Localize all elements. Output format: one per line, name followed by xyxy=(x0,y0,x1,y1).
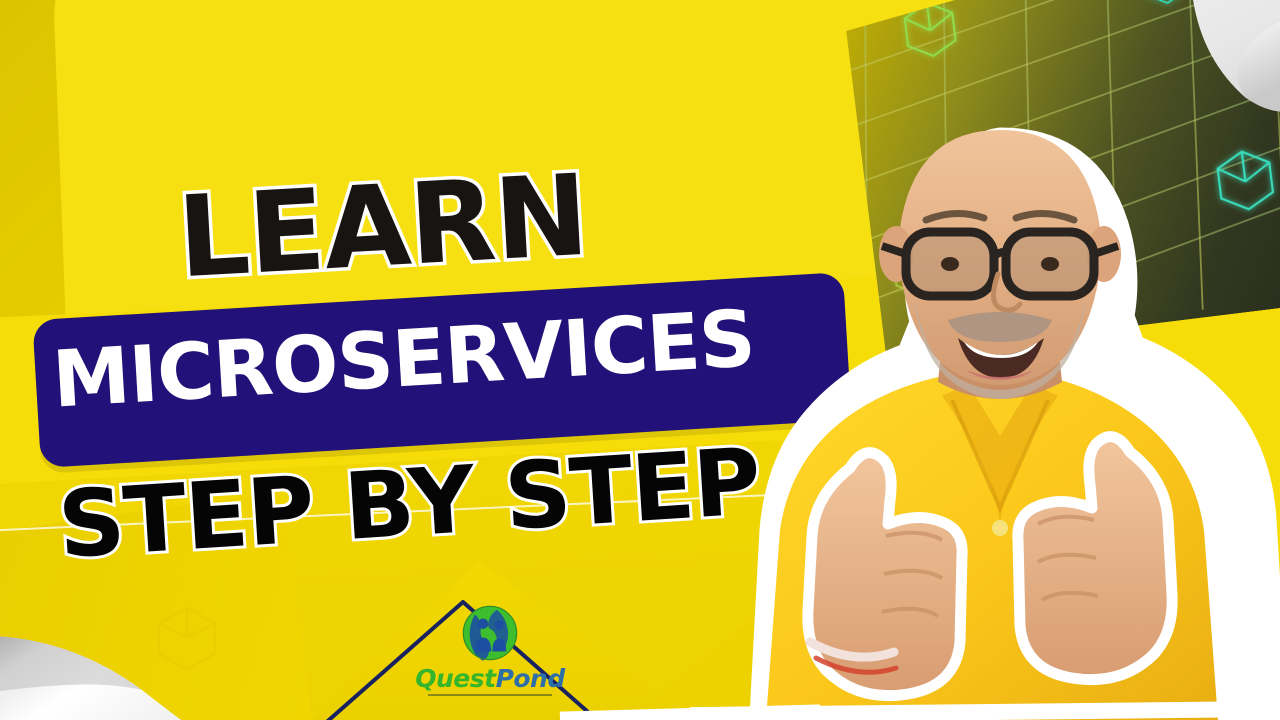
presenter-photo xyxy=(700,96,1280,720)
logo-wordmark: QuestPond xyxy=(392,664,588,693)
logo-word-pond: Pond xyxy=(496,664,565,693)
logo-underline xyxy=(428,694,552,696)
title-line-learn: LEARN xyxy=(175,165,590,291)
logo-word-quest: Quest xyxy=(415,664,495,693)
page-curl-bottom-left-icon xyxy=(0,600,204,720)
presenter-illustration xyxy=(700,96,1280,720)
globe-people-icon xyxy=(461,604,519,662)
page-curl-top-right-icon xyxy=(1096,0,1280,112)
youtube-thumbnail: LEARN MICROSERVICES STEP BY STEP QuestPo… xyxy=(0,0,1280,720)
questpond-logo[interactable]: QuestPond xyxy=(392,604,588,720)
